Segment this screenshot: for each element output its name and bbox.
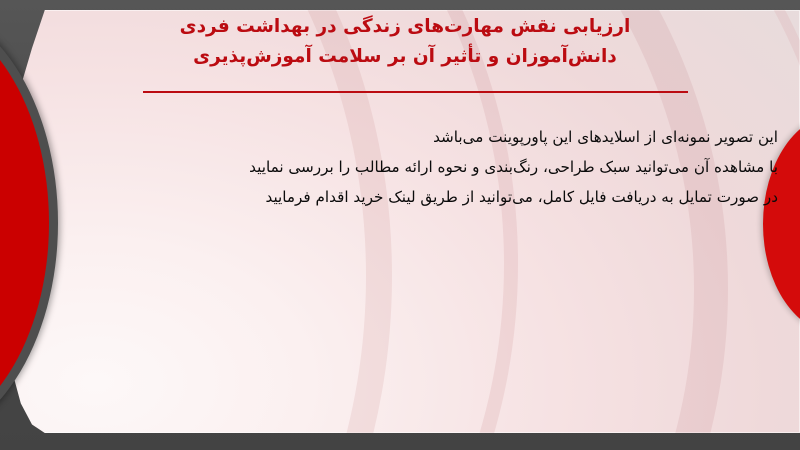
slide-title-underline bbox=[143, 91, 688, 93]
presentation-slide: ارزیابی نقش مهارت‌های زندگی در بهداشت فر… bbox=[0, 0, 800, 450]
slide-title-line-1: ارزیابی نقش مهارت‌های زندگی در بهداشت فر… bbox=[110, 12, 700, 42]
slide-title-line-2: دانش‌آموزان و تأثیر آن بر سلامت آموزش‌پذ… bbox=[110, 42, 700, 72]
background-arc-pattern bbox=[0, 10, 800, 433]
slide-body-text: این تصویر نمونه‌ای از اسلایدهای این پاور… bbox=[58, 122, 778, 212]
slide-body-line-3: در صورت تمایل به دریافت فایل کامل، می‌تو… bbox=[58, 182, 778, 212]
slide-body-line-1: این تصویر نمونه‌ای از اسلایدهای این پاور… bbox=[58, 122, 778, 152]
slide-title: ارزیابی نقش مهارت‌های زندگی در بهداشت فر… bbox=[110, 12, 700, 72]
slide-body-line-2: با مشاهده آن می‌توانید سبک طراحی، رنگ‌بن… bbox=[58, 152, 778, 182]
slide-content-panel bbox=[0, 10, 800, 433]
